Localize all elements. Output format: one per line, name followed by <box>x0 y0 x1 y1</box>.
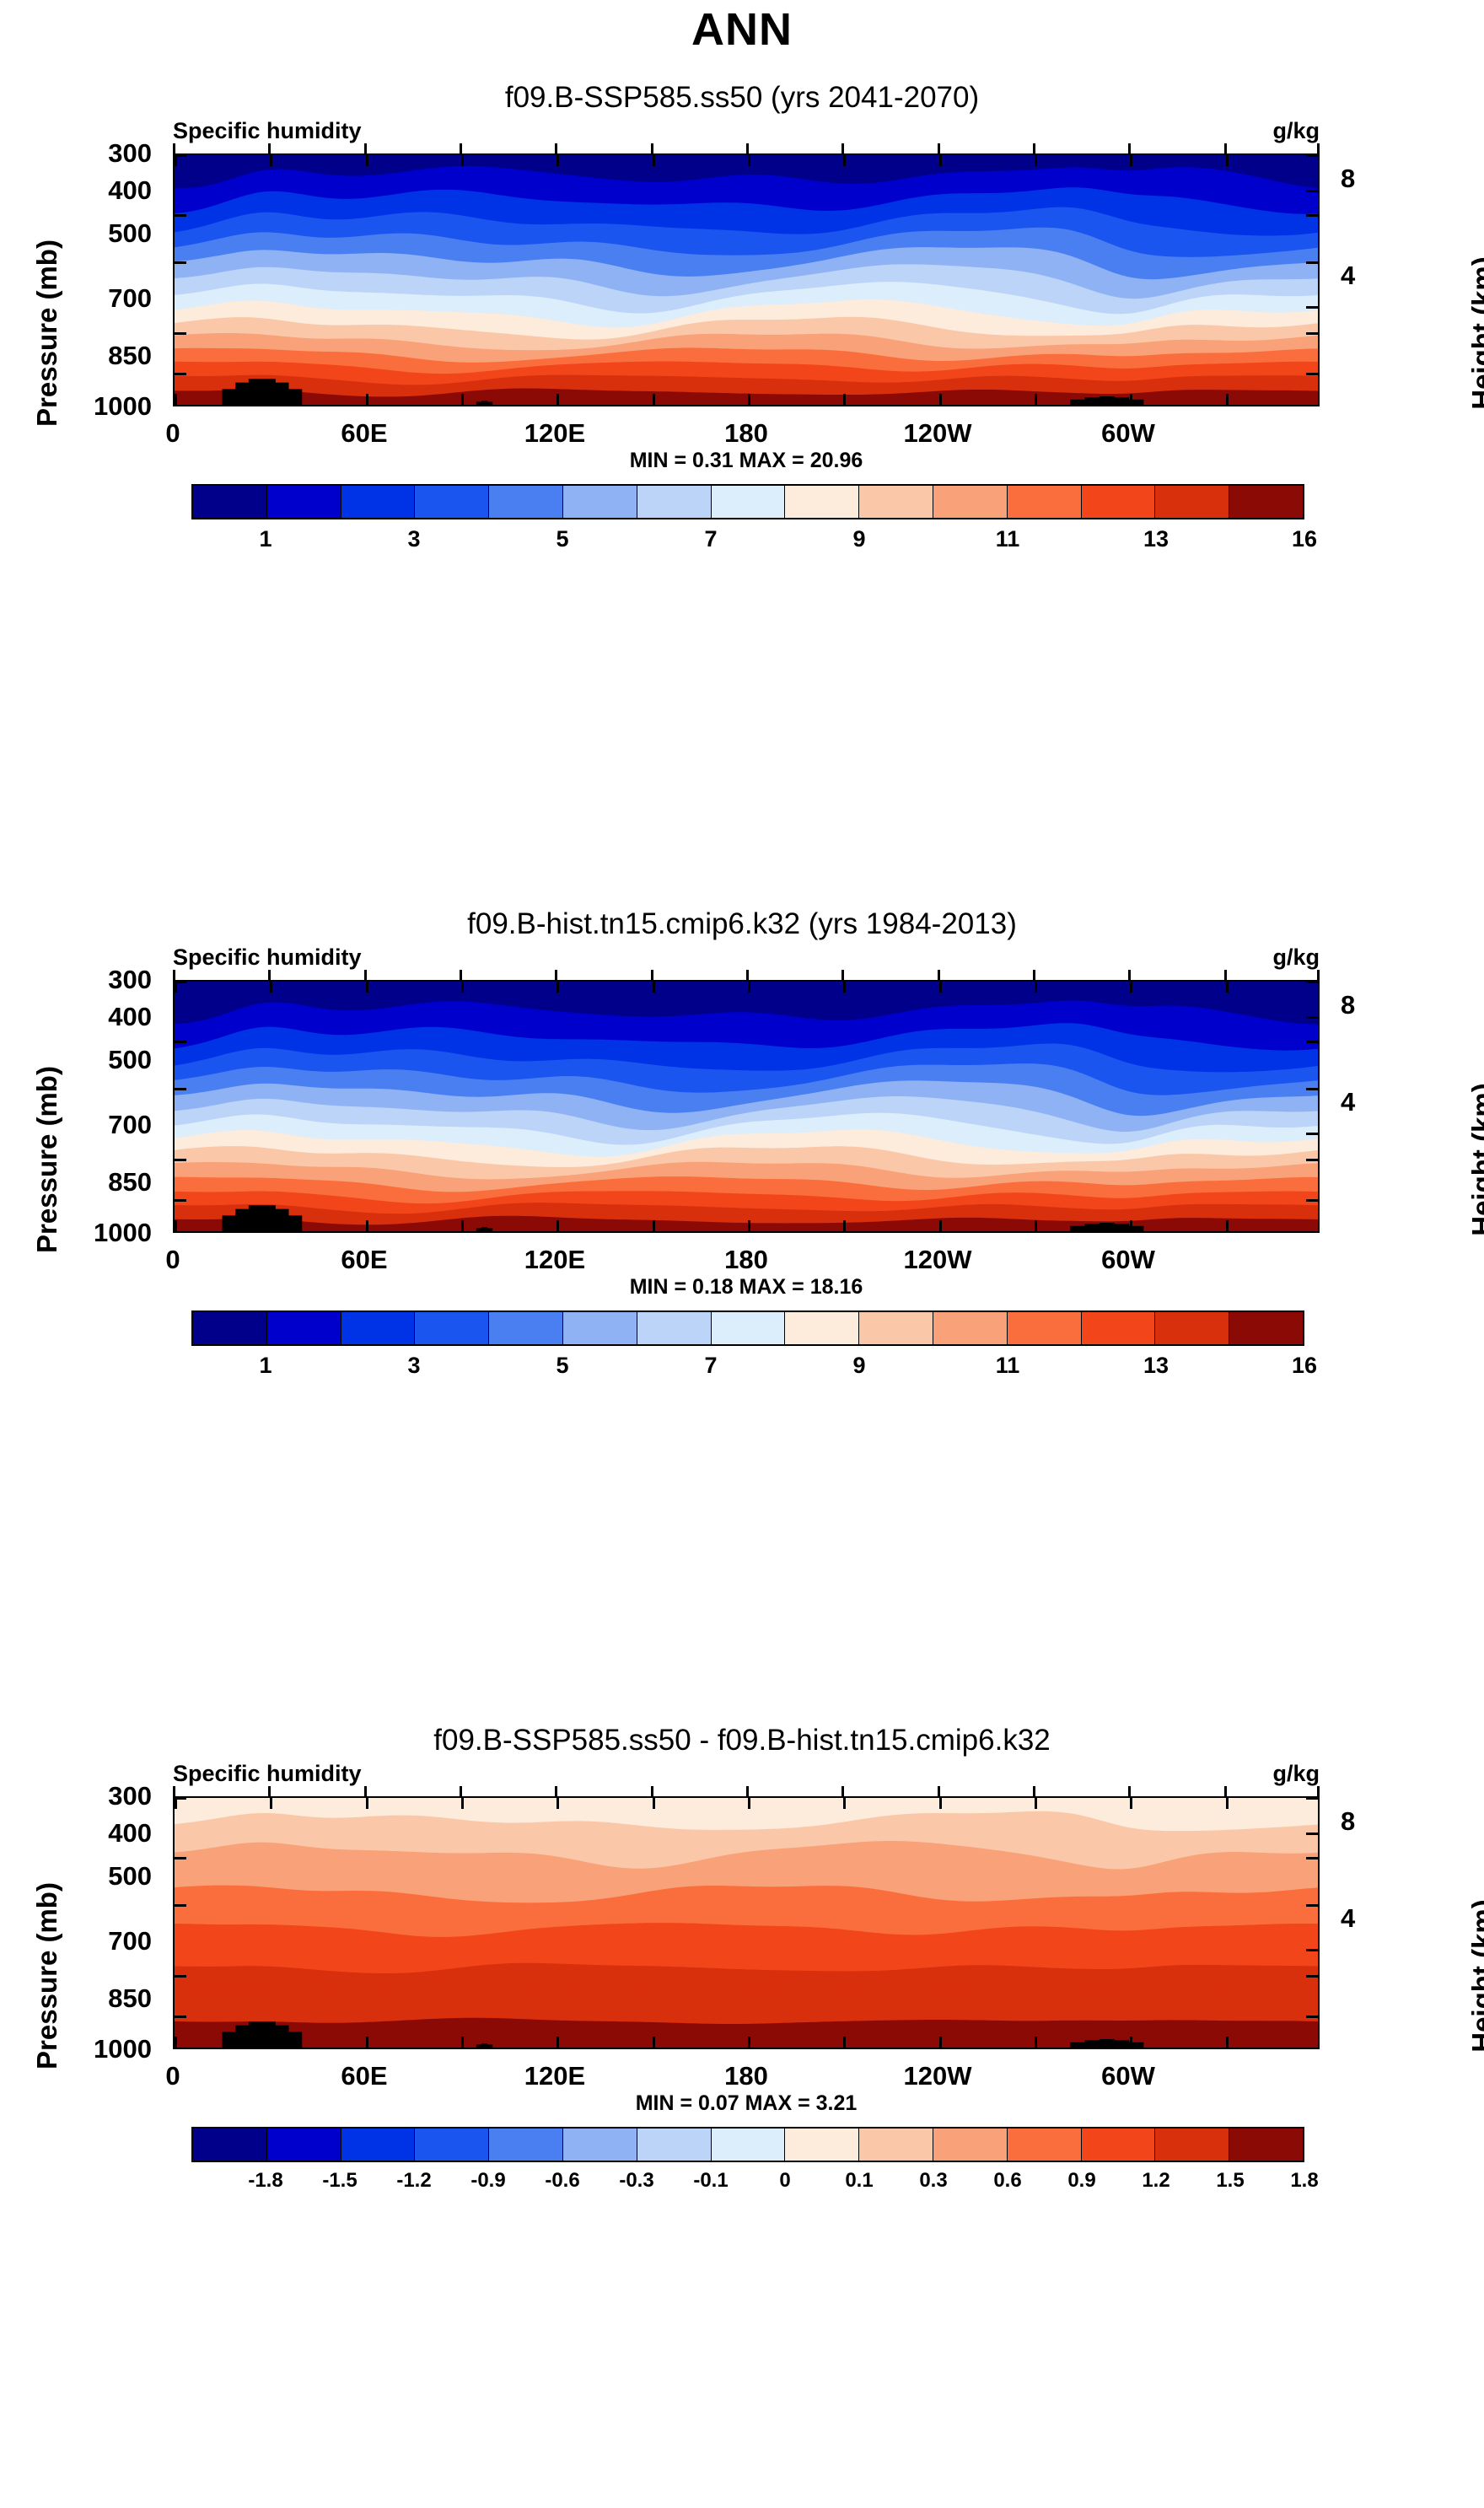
terrain-mask <box>1100 396 1115 405</box>
colorbar-cell <box>1155 2129 1229 2161</box>
x-tick-mark <box>653 2037 655 2048</box>
y-tick-mark <box>1306 1159 1318 1161</box>
x-tick-mark <box>1319 1220 1320 1231</box>
x-tick-mark <box>843 394 846 405</box>
x-tick-mark <box>1319 2037 1320 2048</box>
x-tick-mark-outer <box>1317 970 1320 980</box>
colorbar-cell <box>415 1312 489 1344</box>
x-tick-mark-outer <box>1317 143 1320 153</box>
terrain-mask <box>249 379 262 405</box>
xtick-60E: 60E <box>341 2061 387 2091</box>
xtick-120E: 120E <box>524 2061 585 2091</box>
xtick-60W: 60W <box>1101 418 1155 449</box>
y-tick-mark <box>175 1159 186 1161</box>
ytick-height-8: 8 <box>1341 164 1355 194</box>
colorbar-cell <box>637 486 712 518</box>
terrain-mask <box>275 383 288 405</box>
x-tick-mark <box>556 982 559 993</box>
colorbar-cell <box>637 2129 712 2161</box>
colorbar-tick-label: -0.6 <box>545 2169 579 2193</box>
y-tick-mark <box>1306 154 1318 157</box>
y-tick-mark <box>1306 261 1318 264</box>
colorbar-cell <box>785 486 859 518</box>
ytick-500: 500 <box>108 218 152 249</box>
x-tick-mark-outer <box>555 143 557 153</box>
terrain-mask <box>1114 397 1129 405</box>
xtick-180: 180 <box>724 418 768 449</box>
colorbar-cell <box>859 486 933 518</box>
x-tick-mark <box>1319 155 1320 166</box>
colorbar-cell <box>489 2129 563 2161</box>
colorbar-cells <box>191 484 1304 519</box>
x-tick-mark-outer <box>841 970 844 980</box>
pressure-tick-labels: 300 400 500 700 850 1000 <box>51 153 152 415</box>
x-tick-mark <box>653 155 655 166</box>
colorbar-tick-label: 7 <box>704 526 717 552</box>
x-tick-mark <box>748 155 750 166</box>
colorbar-cell <box>1082 1312 1156 1344</box>
x-tick-mark <box>748 2037 750 2048</box>
colorbar-tick-label: 1.8 <box>1290 2169 1318 2193</box>
ytick-400: 400 <box>108 175 152 206</box>
x-tick-mark <box>1226 2037 1229 2048</box>
terrain-mask <box>223 389 236 405</box>
x-tick-mark-outer <box>1033 1786 1035 1796</box>
terrain-mask <box>275 1209 288 1231</box>
x-tick-mark-outer <box>1128 143 1131 153</box>
xtick-120E: 120E <box>524 1245 585 1275</box>
xtick-180: 180 <box>724 2061 768 2091</box>
x-tick-mark <box>270 1798 272 1809</box>
x-tick-mark <box>653 394 655 405</box>
terrain-mask <box>235 383 249 405</box>
x-tick-mark-outer <box>746 1786 749 1796</box>
colorbar-tick-label: 11 <box>996 1353 1020 1379</box>
colorbar-tick-label: 3 <box>407 1353 420 1379</box>
terrain-mask <box>235 2026 249 2048</box>
terrain-mask <box>1100 2039 1115 2048</box>
colorbar-cell <box>267 486 341 518</box>
y-tick-mark <box>1306 332 1318 335</box>
colorbar-tick-label: 1 <box>259 526 272 552</box>
units-label: g/kg <box>1272 945 1320 971</box>
x-tick-mark <box>939 1798 942 1809</box>
colorbar-cell <box>933 2129 1008 2161</box>
colorbar-tick-label: 16 <box>1292 1353 1317 1379</box>
colorbar-cell <box>1008 1312 1082 1344</box>
minmax-label: MIN = 0.07 MAX = 3.21 <box>173 2091 1320 2116</box>
x-tick-mark <box>1319 982 1320 993</box>
terrain-mask <box>249 2021 262 2048</box>
colorbar-cell <box>712 2129 786 2161</box>
ytick-400: 400 <box>108 1818 152 1849</box>
colorbar-tick-label: 1 <box>259 1353 272 1379</box>
x-tick-mark <box>556 1798 559 1809</box>
ytick-850: 850 <box>108 1167 152 1197</box>
colorbar-tick-label: 5 <box>556 1353 568 1379</box>
variable-label: Specific humidity <box>173 1761 362 1787</box>
x-tick-mark <box>748 1798 750 1809</box>
ytick-300: 300 <box>108 138 152 169</box>
colorbar-cell <box>489 1312 563 1344</box>
x-tick-mark-outer <box>651 143 653 153</box>
xtick-0: 0 <box>165 418 180 449</box>
x-tick-mark <box>748 394 750 405</box>
x-tick-mark-outer <box>1033 970 1035 980</box>
x-tick-mark-outer <box>841 143 844 153</box>
y-tick-mark <box>1306 214 1318 217</box>
terrain-mask <box>262 379 276 405</box>
colorbar-tick-label: 0.9 <box>1067 2169 1095 2193</box>
colorbar-cell <box>1082 486 1156 518</box>
ytick-height-4: 4 <box>1341 261 1355 291</box>
terrain-mask <box>1114 1224 1129 1231</box>
x-tick-mark <box>270 155 272 166</box>
x-tick-mark <box>175 1798 177 1809</box>
colorbar-cell <box>1229 1312 1303 1344</box>
xtick-0: 0 <box>165 2061 180 2091</box>
x-tick-mark-outer <box>268 143 271 153</box>
height-tick-mark <box>1306 1133 1318 1135</box>
x-tick-mark <box>461 394 464 405</box>
x-tick-mark <box>1226 982 1229 993</box>
y-tick-mark <box>175 332 186 335</box>
terrain-mask <box>476 1228 482 1231</box>
y-tick-mark <box>175 214 186 217</box>
terrain-mask <box>1100 1223 1115 1231</box>
x-tick-mark <box>556 1220 559 1231</box>
x-tick-mark <box>843 155 846 166</box>
x-tick-mark-outer <box>555 1786 557 1796</box>
x-tick-mark <box>748 1220 750 1231</box>
colorbar-cell <box>1082 2129 1156 2161</box>
colorbar-tick-label: -1.8 <box>248 2169 282 2193</box>
x-tick-mark-outer <box>460 1786 462 1796</box>
terrain-mask <box>249 1205 262 1231</box>
right-axis-title: Height (km) <box>1466 1033 1484 1286</box>
terrain-mask <box>235 1209 249 1231</box>
x-tick-mark <box>366 394 368 405</box>
terrain-mask <box>1070 1226 1085 1231</box>
terrain-mask <box>262 2021 276 2048</box>
colorbar-tick-label: -0.3 <box>619 2169 653 2193</box>
x-tick-mark <box>175 1220 177 1231</box>
colorbar-cell <box>563 1312 637 1344</box>
colorbar-tick-label: 3 <box>407 526 420 552</box>
ytick-400: 400 <box>108 1002 152 1032</box>
terrain-mask <box>275 2026 288 2048</box>
x-tick-mark <box>1226 1798 1229 1809</box>
colorbar-cell <box>712 486 786 518</box>
colorbar-labels: 13579111316 <box>191 1353 1304 1383</box>
colorbar-cell <box>341 2129 416 2161</box>
terrain-mask <box>288 389 302 405</box>
panel-title: f09.B-SSP585.ss50 - f09.B-hist.tn15.cmip… <box>0 1724 1484 1757</box>
x-tick-mark <box>366 2037 368 2048</box>
colorbar-cell <box>267 2129 341 2161</box>
x-tick-mark <box>748 982 750 993</box>
x-tick-mark <box>175 155 177 166</box>
terrain-mask <box>1114 2040 1129 2048</box>
x-tick-mark <box>1226 394 1229 405</box>
plot-header: Specific humidity g/kg <box>173 1761 1320 1787</box>
terrain-mask <box>1085 1224 1100 1231</box>
colorbar-tick-label: 13 <box>1143 526 1169 552</box>
colorbar-cell <box>1008 486 1082 518</box>
colorbar-tick-label: 0.3 <box>919 2169 947 2193</box>
x-tick-mark <box>1319 1798 1320 1809</box>
colorbar-cell <box>1008 2129 1082 2161</box>
terrain-mask <box>1070 400 1085 405</box>
x-tick-mark <box>270 2037 272 2048</box>
x-tick-mark <box>939 1220 942 1231</box>
terrain-mask <box>1085 2040 1100 2048</box>
terrain-mask <box>481 2043 487 2048</box>
ytick-500: 500 <box>108 1861 152 1892</box>
right-axis-title: Height (km) <box>1466 1849 1484 2102</box>
xtick-60E: 60E <box>341 418 387 449</box>
x-tick-mark <box>366 1798 368 1809</box>
x-tick-mark-outer <box>841 1786 844 1796</box>
y-tick-mark <box>1306 1857 1318 1859</box>
colorbar-cell <box>1155 1312 1229 1344</box>
x-tick-mark <box>1130 1798 1132 1809</box>
panel-title: f09.B-hist.tn15.cmip6.k32 (yrs 1984-2013… <box>0 907 1484 941</box>
ytick-500: 500 <box>108 1045 152 1075</box>
x-tick-mark-outer <box>651 970 653 980</box>
pressure-tick-labels: 300 400 500 700 850 1000 <box>51 1796 152 2058</box>
colorbar-cell <box>712 1312 786 1344</box>
y-tick-mark <box>1306 1797 1318 1800</box>
x-tick-mark-outer <box>1033 143 1035 153</box>
colorbar-cell <box>637 1312 712 1344</box>
x-tick-mark <box>1130 155 1132 166</box>
x-tick-mark-outer <box>1224 1786 1227 1796</box>
ytick-850: 850 <box>108 1983 152 2014</box>
ytick-850: 850 <box>108 341 152 371</box>
terrain-mask <box>481 401 487 405</box>
colorbar-tick-label: -1.5 <box>322 2169 357 2193</box>
panel-historical: f09.B-hist.tn15.cmip6.k32 (yrs 1984-2013… <box>0 907 1484 1717</box>
right-axis-title: Height (km) <box>1466 207 1484 460</box>
x-tick-mark <box>1035 155 1037 166</box>
colorbar-cell <box>1229 486 1303 518</box>
colorbar-labels: -1.8-1.5-1.2-0.9-0.6-0.3-0.100.10.30.60.… <box>191 2169 1304 2199</box>
terrain-mask <box>481 1227 487 1231</box>
y-tick-mark <box>1306 1975 1318 1978</box>
height-tick-mark <box>1306 1833 1318 1835</box>
x-tick-mark-outer <box>460 970 462 980</box>
x-tick-mark-outer <box>173 970 175 980</box>
y-tick-mark <box>1306 1041 1318 1043</box>
ytick-300: 300 <box>108 1781 152 1811</box>
x-tick-mark-outer <box>555 970 557 980</box>
minmax-label: MIN = 0.31 MAX = 20.96 <box>173 449 1320 473</box>
colorbar-tick-label: 9 <box>852 526 865 552</box>
colorbar-cells <box>191 2127 1304 2162</box>
colorbar-cell <box>193 1312 267 1344</box>
height-tick-labels: 8 4 <box>1341 980 1442 1241</box>
x-tick-mark <box>1130 1220 1132 1231</box>
xtick-120E: 120E <box>524 418 585 449</box>
x-tick-mark-outer <box>268 1786 271 1796</box>
x-tick-mark <box>1130 394 1132 405</box>
colorbar-tick-label: 0.1 <box>845 2169 873 2193</box>
colorbar-cell <box>859 2129 933 2161</box>
terrain-mask <box>223 2032 236 2048</box>
variable-label: Specific humidity <box>173 118 362 144</box>
terrain-mask <box>223 1215 236 1231</box>
xtick-120W: 120W <box>904 2061 972 2091</box>
x-tick-mark-outer <box>746 970 749 980</box>
colorbar-tick-label: 1.2 <box>1142 2169 1169 2193</box>
terrain-mask <box>288 1215 302 1231</box>
colorbar-cell <box>267 1312 341 1344</box>
y-tick-mark <box>175 1088 186 1090</box>
x-tick-mark <box>653 1798 655 1809</box>
colorbar-cell <box>933 486 1008 518</box>
x-tick-mark <box>1035 394 1037 405</box>
ytick-700: 700 <box>108 1926 152 1956</box>
x-tick-mark <box>1130 2037 1132 2048</box>
x-tick-mark <box>1035 982 1037 993</box>
y-tick-mark <box>1306 373 1318 375</box>
y-tick-mark <box>175 1857 186 1859</box>
colorbar-cell <box>859 1312 933 1344</box>
ytick-700: 700 <box>108 283 152 314</box>
colorbar-cell <box>341 486 416 518</box>
colorbar-tick-label: 1.5 <box>1216 2169 1244 2193</box>
colorbar-tick-label: 16 <box>1292 526 1317 552</box>
colorbar-cell <box>415 486 489 518</box>
terrain-mask <box>476 2044 482 2048</box>
colorbar-tick-label: -0.1 <box>693 2169 728 2193</box>
x-tick-mark <box>1035 2037 1037 2048</box>
colorbar-tick-label: 0 <box>779 2169 790 2193</box>
x-tick-mark <box>1226 155 1229 166</box>
contour-canvas <box>175 1798 1318 2048</box>
x-tick-mark <box>843 982 846 993</box>
x-tick-mark <box>461 982 464 993</box>
colorbar-tick-label: 11 <box>996 526 1020 552</box>
plot-header: Specific humidity g/kg <box>173 945 1320 971</box>
colorbar-tick-label: 0.6 <box>993 2169 1021 2193</box>
x-tick-mark-outer <box>1128 970 1131 980</box>
colorbar-cell <box>415 2129 489 2161</box>
x-tick-mark <box>461 1220 464 1231</box>
y-tick-mark <box>175 261 186 264</box>
ytick-height-8: 8 <box>1341 1806 1355 1837</box>
x-tick-mark <box>175 2037 177 2048</box>
x-tick-mark <box>843 1798 846 1809</box>
x-tick-mark <box>939 982 942 993</box>
x-tick-mark <box>939 155 942 166</box>
ytick-300: 300 <box>108 965 152 995</box>
terrain-mask <box>288 2032 302 2048</box>
y-tick-mark <box>175 373 186 375</box>
colorbar-cell <box>193 2129 267 2161</box>
terrain-mask <box>487 1228 492 1231</box>
x-tick-mark <box>461 1798 464 1809</box>
y-tick-mark <box>1306 1199 1318 1202</box>
units-label: g/kg <box>1272 1761 1320 1787</box>
x-tick-mark <box>1226 1220 1229 1231</box>
pressure-tick-labels: 300 400 500 700 850 1000 <box>51 980 152 1241</box>
height-tick-mark <box>1306 190 1318 192</box>
colorbar-labels: 13579111316 <box>191 526 1304 557</box>
y-tick-mark <box>175 1975 186 1978</box>
colorbar-cell <box>563 2129 637 2161</box>
x-tick-mark <box>843 1220 846 1231</box>
panel-ssp585: f09.B-SSP585.ss50 (yrs 2041-2070) Specif… <box>0 81 1484 891</box>
height-tick-mark <box>1306 1016 1318 1019</box>
xtick-60E: 60E <box>341 1245 387 1275</box>
x-tick-mark <box>843 2037 846 2048</box>
height-tick-labels: 8 4 <box>1341 153 1442 415</box>
longitude-tick-labels: 0 60E 120E 180 120W 60W <box>173 1245 1320 1278</box>
xtick-0: 0 <box>165 1245 180 1275</box>
y-tick-mark <box>175 1041 186 1043</box>
ytick-700: 700 <box>108 1110 152 1140</box>
x-tick-mark-outer <box>938 143 940 153</box>
colorbar-tick-label: 9 <box>852 1353 865 1379</box>
x-tick-mark <box>461 155 464 166</box>
colorbar-cell <box>1229 2129 1303 2161</box>
x-tick-mark <box>461 2037 464 2048</box>
y-tick-mark <box>175 1199 186 1202</box>
x-tick-mark <box>175 394 177 405</box>
panel-title: f09.B-SSP585.ss50 (yrs 2041-2070) <box>0 81 1484 115</box>
x-tick-mark <box>556 2037 559 2048</box>
x-tick-mark <box>270 982 272 993</box>
colorbar-cell <box>933 1312 1008 1344</box>
contour-canvas <box>175 155 1318 405</box>
ytick-1000: 1000 <box>94 1218 152 1248</box>
x-tick-mark-outer <box>364 1786 367 1796</box>
colorbar-tick-label: -1.2 <box>396 2169 431 2193</box>
colorbar-cell <box>1155 486 1229 518</box>
units-label: g/kg <box>1272 118 1320 144</box>
xtick-120W: 120W <box>904 418 972 449</box>
terrain-mask <box>1085 397 1100 405</box>
terrain-mask <box>476 401 482 405</box>
colorbar-cell <box>193 486 267 518</box>
height-tick-mark <box>1306 306 1318 309</box>
xtick-60W: 60W <box>1101 1245 1155 1275</box>
colorbar-cell <box>341 1312 416 1344</box>
x-tick-mark <box>556 155 559 166</box>
xtick-180: 180 <box>724 1245 768 1275</box>
page-title: ANN <box>0 3 1484 56</box>
panel-difference: f09.B-SSP585.ss50 - f09.B-hist.tn15.cmip… <box>0 1724 1484 2508</box>
contour-plot <box>173 1796 1320 2049</box>
longitude-tick-labels: 0 60E 120E 180 120W 60W <box>173 2061 1320 2095</box>
contour-canvas <box>175 982 1318 1231</box>
terrain-mask <box>1070 2042 1085 2048</box>
terrain-mask <box>487 2044 492 2048</box>
y-tick-mark <box>1306 1088 1318 1090</box>
colorbar-tick-label: 5 <box>556 526 568 552</box>
xtick-60W: 60W <box>1101 2061 1155 2091</box>
variable-label: Specific humidity <box>173 945 362 971</box>
colorbar-tick-label: 13 <box>1143 1353 1169 1379</box>
ytick-1000: 1000 <box>94 391 152 422</box>
colorbar-cell <box>785 2129 859 2161</box>
contour-plot <box>173 980 1320 1233</box>
y-tick-mark <box>1306 981 1318 983</box>
x-tick-mark <box>1319 394 1320 405</box>
x-tick-mark-outer <box>460 143 462 153</box>
